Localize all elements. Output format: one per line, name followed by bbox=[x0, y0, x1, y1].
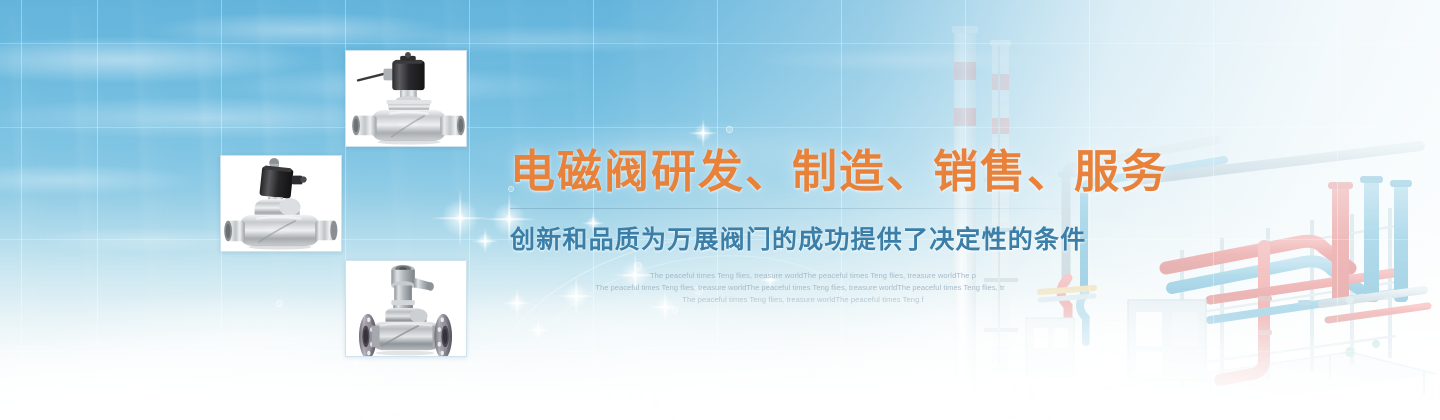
product-card-flanged-solenoid-valve-bottom[interactable] bbox=[345, 260, 467, 357]
hero-banner: 电磁阀研发、制造、销售、服务 创新和品质为万展阀门的成功提供了决定性的条件 Th… bbox=[0, 0, 1440, 420]
product-card-threaded-solenoid-valve-left[interactable] bbox=[220, 155, 342, 252]
banner-subheadline: 创新和品质为万展阀门的成功提供了决定性的条件 bbox=[510, 220, 1110, 256]
banner-text-block: 电磁阀研发、制造、销售、服务 创新和品质为万展阀门的成功提供了决定性的条件 Th… bbox=[510, 148, 1110, 306]
blurb-line-1: The peaceful times Teng flies, treasure … bbox=[510, 270, 1090, 282]
product-card-threaded-solenoid-valve-top[interactable] bbox=[345, 50, 467, 147]
banner-blurb-text: The peaceful times Teng flies, treasure … bbox=[510, 270, 1090, 306]
blurb-line-3: The peaceful times Teng flies, treasure … bbox=[510, 294, 1090, 306]
blurb-line-2: The peaceful times Teng flies, treasure … bbox=[510, 282, 1090, 294]
headline-divider-rule bbox=[510, 208, 1076, 209]
banner-headline: 电磁阀研发、制造、销售、服务 bbox=[510, 148, 1110, 196]
